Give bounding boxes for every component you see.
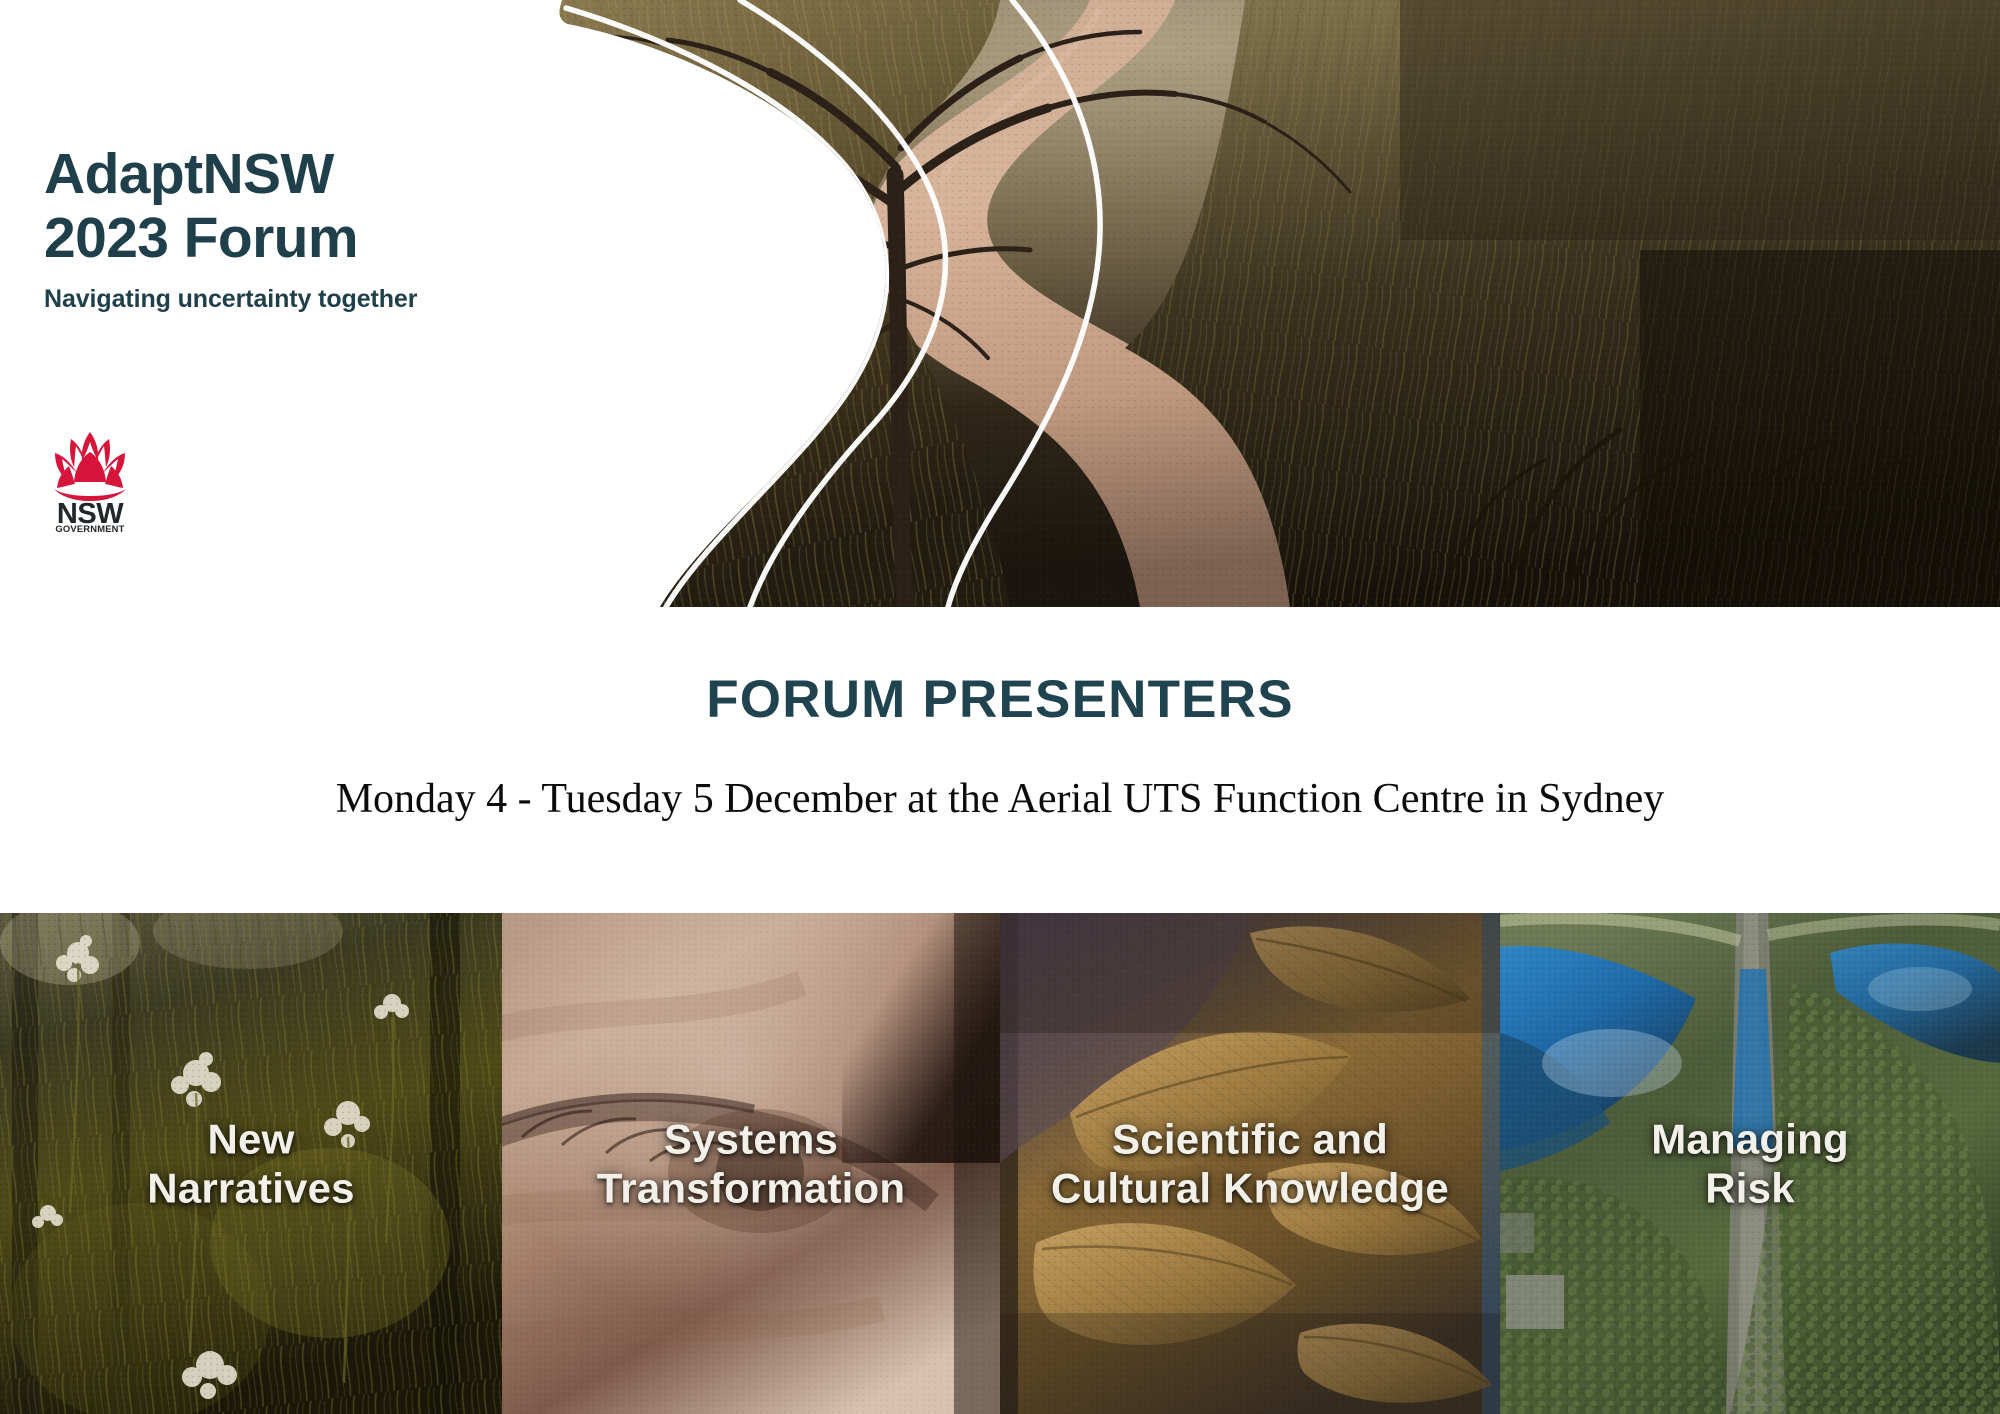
theme-tile-label: Managing Risk — [1500, 1114, 2000, 1213]
theme-tile-label: Systems Transformation — [502, 1114, 1000, 1213]
page-title: FORUM PRESENTERS — [0, 669, 2000, 730]
theme-tile-label: Scientific and Cultural Knowledge — [1000, 1114, 1500, 1213]
theme-tile-scientific-cultural-knowledge[interactable]: Scientific and Cultural Knowledge — [1000, 913, 1500, 1414]
theme-tile-new-narratives[interactable]: New Narratives — [0, 913, 502, 1414]
event-tagline: Navigating uncertainty together — [44, 285, 524, 314]
nsw-government-subtext: GOVERNMENT — [55, 523, 124, 534]
theme-tile-managing-risk[interactable]: Managing Risk — [1500, 913, 2000, 1414]
brand-block: AdaptNSW 2023 Forum Navigating uncertain… — [44, 142, 524, 314]
hero-band: AdaptNSW 2023 Forum Navigating uncertain… — [0, 0, 2000, 607]
title-band: FORUM PRESENTERS Monday 4 - Tuesday 5 De… — [0, 607, 2000, 913]
theme-tile-strip: New Narratives — [0, 913, 2000, 1414]
theme-tile-label: New Narratives — [0, 1114, 502, 1213]
event-details: Monday 4 - Tuesday 5 December at the Aer… — [0, 775, 2000, 823]
event-title: AdaptNSW 2023 Forum — [44, 142, 524, 271]
nsw-government-logo: NSW GOVERNMENT — [40, 426, 140, 534]
theme-tile-systems-transformation[interactable]: Systems Transformation — [502, 913, 1000, 1414]
